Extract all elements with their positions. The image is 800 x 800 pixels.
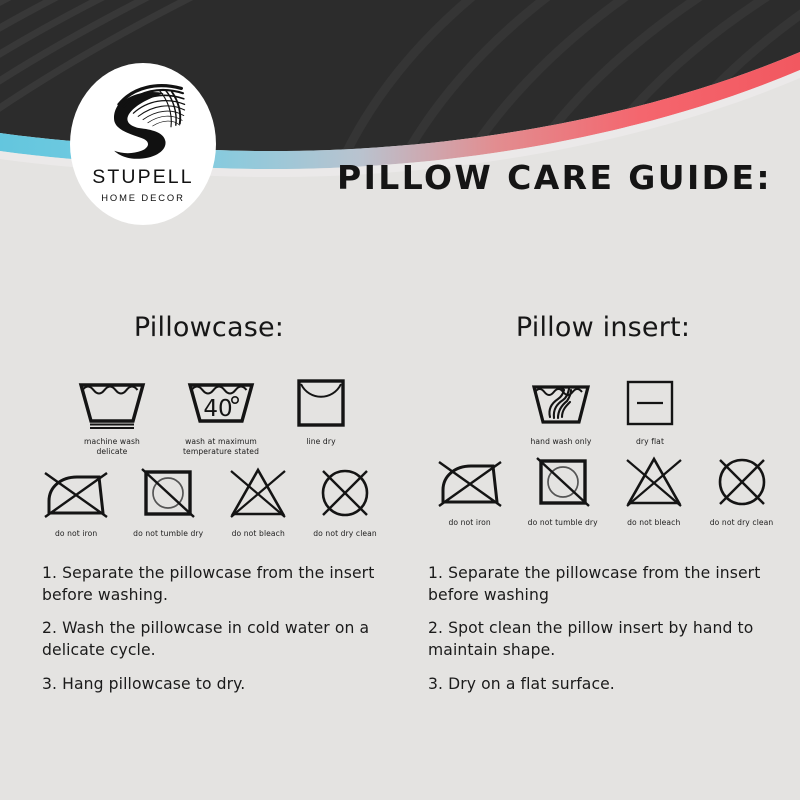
symbol-label: do not iron <box>55 529 97 539</box>
pillow-insert-instructions: 1. Separate the pillowcase from the inse… <box>428 562 778 695</box>
dry-flat-icon <box>622 377 678 429</box>
symbol-label: do not tumble dry <box>528 518 598 528</box>
wash-max-temperature-40-icon: 40 <box>184 377 258 429</box>
symbol-label: dry flat <box>636 437 664 447</box>
symbol-wash-max-temperature: 40 wash at maximum temperature stated <box>183 377 259 458</box>
instruction-step: 3. Hang pillowcase to dry. <box>42 673 392 695</box>
symbol-dry-flat: dry flat <box>622 377 678 447</box>
brand-wordmark: STUPELL <box>92 166 193 189</box>
instruction-step: 2. Wash the pillowcase in cold water on … <box>42 617 392 661</box>
pillowcase-column: Pillowcase: machine wash delicate <box>14 312 404 539</box>
instruction-step: 2. Spot clean the pillow insert by hand … <box>428 617 778 661</box>
stupell-swoosh-logo-icon <box>95 80 191 164</box>
symbol-do-not-tumble-dry: do not tumble dry <box>133 467 203 539</box>
symbol-do-not-tumble-dry: do not tumble dry <box>528 456 598 528</box>
symbol-label: do not bleach <box>232 529 285 539</box>
symbol-label: do not dry clean <box>313 529 377 539</box>
pillowcase-heading: Pillowcase: <box>14 312 404 343</box>
symbol-line-dry: line dry <box>293 377 349 447</box>
page-title: PILLOW CARE GUIDE: <box>337 158 772 197</box>
symbol-hand-wash-only: hand wash only <box>528 377 594 447</box>
symbol-do-not-bleach: do not bleach <box>623 456 685 528</box>
do-not-dry-clean-icon <box>713 456 771 508</box>
wash-temperature-value: 40 <box>203 396 232 422</box>
pillow-insert-symbol-row-1: hand wash only dry flat <box>404 377 794 447</box>
do-not-iron-icon <box>43 467 109 519</box>
line-dry-icon <box>293 377 349 429</box>
symbol-do-not-iron: do not iron <box>43 467 109 539</box>
symbol-label: line dry <box>306 437 335 447</box>
pillowcase-symbol-row-2: do not iron do not tumble dry <box>14 467 404 539</box>
symbol-label: do not tumble dry <box>133 529 203 539</box>
instruction-step: 1. Separate the pillowcase from the inse… <box>42 562 392 606</box>
pillowcase-instructions: 1. Separate the pillowcase from the inse… <box>42 562 392 695</box>
do-not-bleach-icon <box>623 456 685 508</box>
do-not-dry-clean-icon <box>316 467 374 519</box>
symbol-do-not-dry-clean: do not dry clean <box>710 456 774 528</box>
symbol-label: do not bleach <box>627 518 680 528</box>
symbol-label: wash at maximum temperature stated <box>183 437 259 458</box>
instruction-step: 1. Separate the pillowcase from the inse… <box>428 562 778 606</box>
do-not-iron-icon <box>437 456 503 508</box>
pillow-insert-symbol-row-2: do not iron do not tumble dry <box>404 456 794 528</box>
symbol-do-not-dry-clean: do not dry clean <box>313 467 377 539</box>
pillow-care-guide-page: STUPELL HOME DECOR PILLOW CARE GUIDE: Pi… <box>0 0 800 800</box>
pillow-insert-heading: Pillow insert: <box>408 312 798 343</box>
machine-wash-delicate-icon <box>75 377 149 429</box>
brand-logo-badge: STUPELL HOME DECOR <box>70 63 216 225</box>
symbol-machine-wash-delicate: machine wash delicate <box>75 377 149 458</box>
instruction-step: 3. Dry on a flat surface. <box>428 673 778 695</box>
pillowcase-symbol-row-1: machine wash delicate 40 wash at maximum… <box>14 377 404 458</box>
symbol-label: hand wash only <box>530 437 591 447</box>
brand-tagline: HOME DECOR <box>101 192 185 203</box>
hand-wash-only-icon <box>528 377 594 429</box>
symbol-label: do not iron <box>448 518 490 528</box>
symbol-label: do not dry clean <box>710 518 774 528</box>
pillow-insert-column: Pillow insert: <box>404 312 794 529</box>
symbol-do-not-bleach: do not bleach <box>227 467 289 539</box>
do-not-tumble-dry-icon <box>138 467 198 519</box>
symbol-label: machine wash delicate <box>84 437 140 458</box>
symbol-do-not-iron: do not iron <box>437 456 503 528</box>
do-not-bleach-icon <box>227 467 289 519</box>
do-not-tumble-dry-icon <box>533 456 593 508</box>
